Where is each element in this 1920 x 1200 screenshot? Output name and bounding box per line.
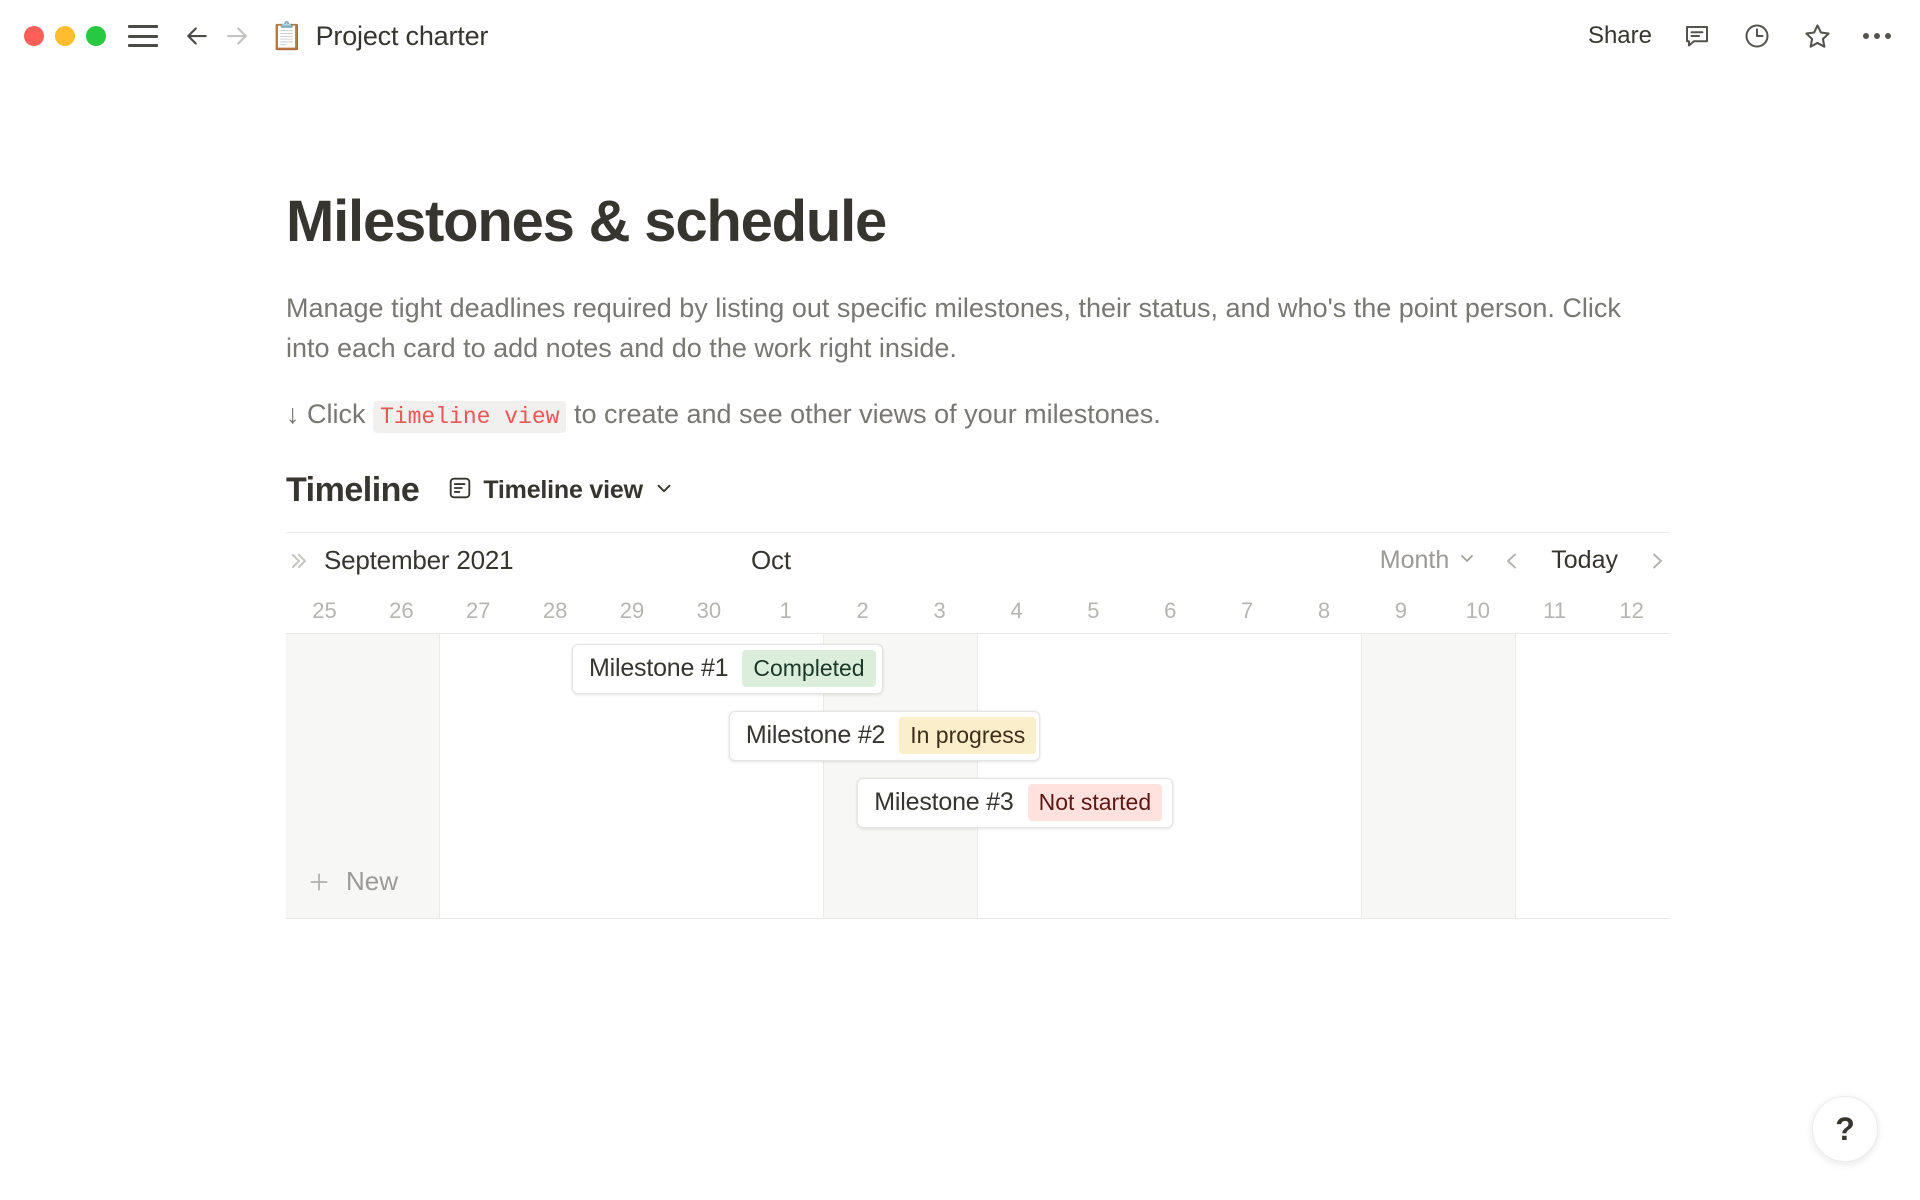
timeline-date-cell: 29 <box>594 598 671 624</box>
timeline-items-layer: Milestone #1CompletedMilestone #2In prog… <box>286 634 1670 918</box>
titlebar-actions: Share <box>1586 18 1894 54</box>
plus-icon <box>306 869 332 895</box>
window-controls <box>24 26 106 46</box>
timeline-toolbar: September 2021 Oct Month <box>286 533 1670 589</box>
zoom-window-button[interactable] <box>86 26 106 46</box>
page-callout: ↓ Click Timeline view to create and see … <box>286 394 1646 434</box>
timeline-item[interactable]: Milestone #1Completed <box>572 644 883 694</box>
inline-code-timeline-view[interactable]: Timeline view <box>373 401 566 433</box>
timeline-date-cell: 8 <box>1286 598 1363 624</box>
page-body: Milestones & schedule Manage tight deadl… <box>0 72 1920 919</box>
timeline-date-cell: 2 <box>824 598 901 624</box>
timeline-new-item-label: New <box>346 866 398 897</box>
timeline-scale-label: Month <box>1380 546 1449 575</box>
timeline-date-cell: 28 <box>517 598 594 624</box>
help-icon: ? <box>1835 1111 1855 1148</box>
timeline-item[interactable]: Milestone #3Not started <box>857 778 1172 828</box>
timeline-current-month[interactable]: September 2021 <box>324 545 513 576</box>
share-button[interactable]: Share <box>1586 18 1654 54</box>
status-badge: Completed <box>742 650 875 687</box>
timeline-date-cell: 9 <box>1362 598 1439 624</box>
timeline-item-name: Milestone #2 <box>746 721 885 750</box>
timeline-date-ruler: 252627282930123456789101112 <box>286 589 1670 633</box>
timeline-month-group: September 2021 <box>286 545 513 576</box>
timeline-date-cell: 26 <box>363 598 440 624</box>
timeline-date-cell: 30 <box>670 598 747 624</box>
timeline-view-selector[interactable]: Timeline view <box>441 471 681 510</box>
callout-suffix: to create and see other views of your mi… <box>566 399 1160 429</box>
timeline-date-cell: 1 <box>747 598 824 624</box>
timeline-toolbar-right: Month Today <box>1380 544 1670 577</box>
document-title[interactable]: Project charter <box>316 21 489 52</box>
timeline-date-cell: 6 <box>1132 598 1209 624</box>
timeline-date-cell: 25 <box>286 598 363 624</box>
close-window-button[interactable] <box>24 26 44 46</box>
timeline-view-icon <box>447 475 473 506</box>
timeline-date-cell: 5 <box>1055 598 1132 624</box>
timeline-next-month[interactable]: Oct <box>751 545 791 576</box>
minimize-window-button[interactable] <box>55 26 75 46</box>
status-badge: In progress <box>899 717 1036 754</box>
timeline-date-cell: 3 <box>901 598 978 624</box>
timeline-new-item-button[interactable]: New <box>286 846 398 918</box>
page-title: Milestones & schedule <box>286 190 1670 254</box>
timeline-date-cell: 11 <box>1516 598 1593 624</box>
status-badge: Not started <box>1028 784 1163 821</box>
back-arrow-icon[interactable] <box>180 19 214 53</box>
forward-arrow-icon[interactable] <box>220 19 254 53</box>
timeline-date-cell: 27 <box>440 598 517 624</box>
help-button[interactable]: ? <box>1812 1096 1878 1162</box>
timeline-section-title: Timeline <box>286 471 419 510</box>
timeline-today-button[interactable]: Today <box>1547 544 1622 577</box>
timeline-item[interactable]: Milestone #2In progress <box>729 711 1040 761</box>
timeline-board: September 2021 Oct Month <box>286 532 1670 919</box>
timeline-item-name: Milestone #1 <box>589 654 728 683</box>
timeline-item-name: Milestone #3 <box>874 788 1013 817</box>
timeline-scale-selector[interactable]: Month <box>1380 546 1477 575</box>
timeline-date-cell: 7 <box>1209 598 1286 624</box>
timeline-grid: Milestone #1CompletedMilestone #2In prog… <box>286 633 1670 919</box>
double-chevron-right-icon[interactable] <box>286 549 310 573</box>
timeline-date-cell: 12 <box>1593 598 1670 624</box>
page-description: Manage tight deadlines required by listi… <box>286 288 1646 368</box>
history-icon[interactable] <box>1740 19 1774 53</box>
timeline-prev-button[interactable] <box>1499 548 1525 574</box>
comment-icon[interactable] <box>1680 19 1714 53</box>
menu-icon[interactable] <box>128 25 158 47</box>
title-bar: 📋 Project charter Share <box>0 0 1920 72</box>
more-options-icon[interactable] <box>1860 19 1894 53</box>
favorite-star-icon[interactable] <box>1800 19 1834 53</box>
content-column: Milestones & schedule Manage tight deadl… <box>250 190 1670 919</box>
app-window: 📋 Project charter Share <box>0 0 1920 1200</box>
chevron-down-icon <box>653 477 675 504</box>
callout-prefix: ↓ Click <box>286 399 373 429</box>
timeline-date-cell: 10 <box>1439 598 1516 624</box>
document-emoji-icon: 📋 <box>270 23 304 50</box>
timeline-heading-row: Timeline Timeline view <box>286 471 1670 510</box>
timeline-view-label: Timeline view <box>483 476 643 505</box>
chevron-down-icon <box>1457 546 1477 575</box>
timeline-next-button[interactable] <box>1644 548 1670 574</box>
timeline-date-cell: 4 <box>978 598 1055 624</box>
